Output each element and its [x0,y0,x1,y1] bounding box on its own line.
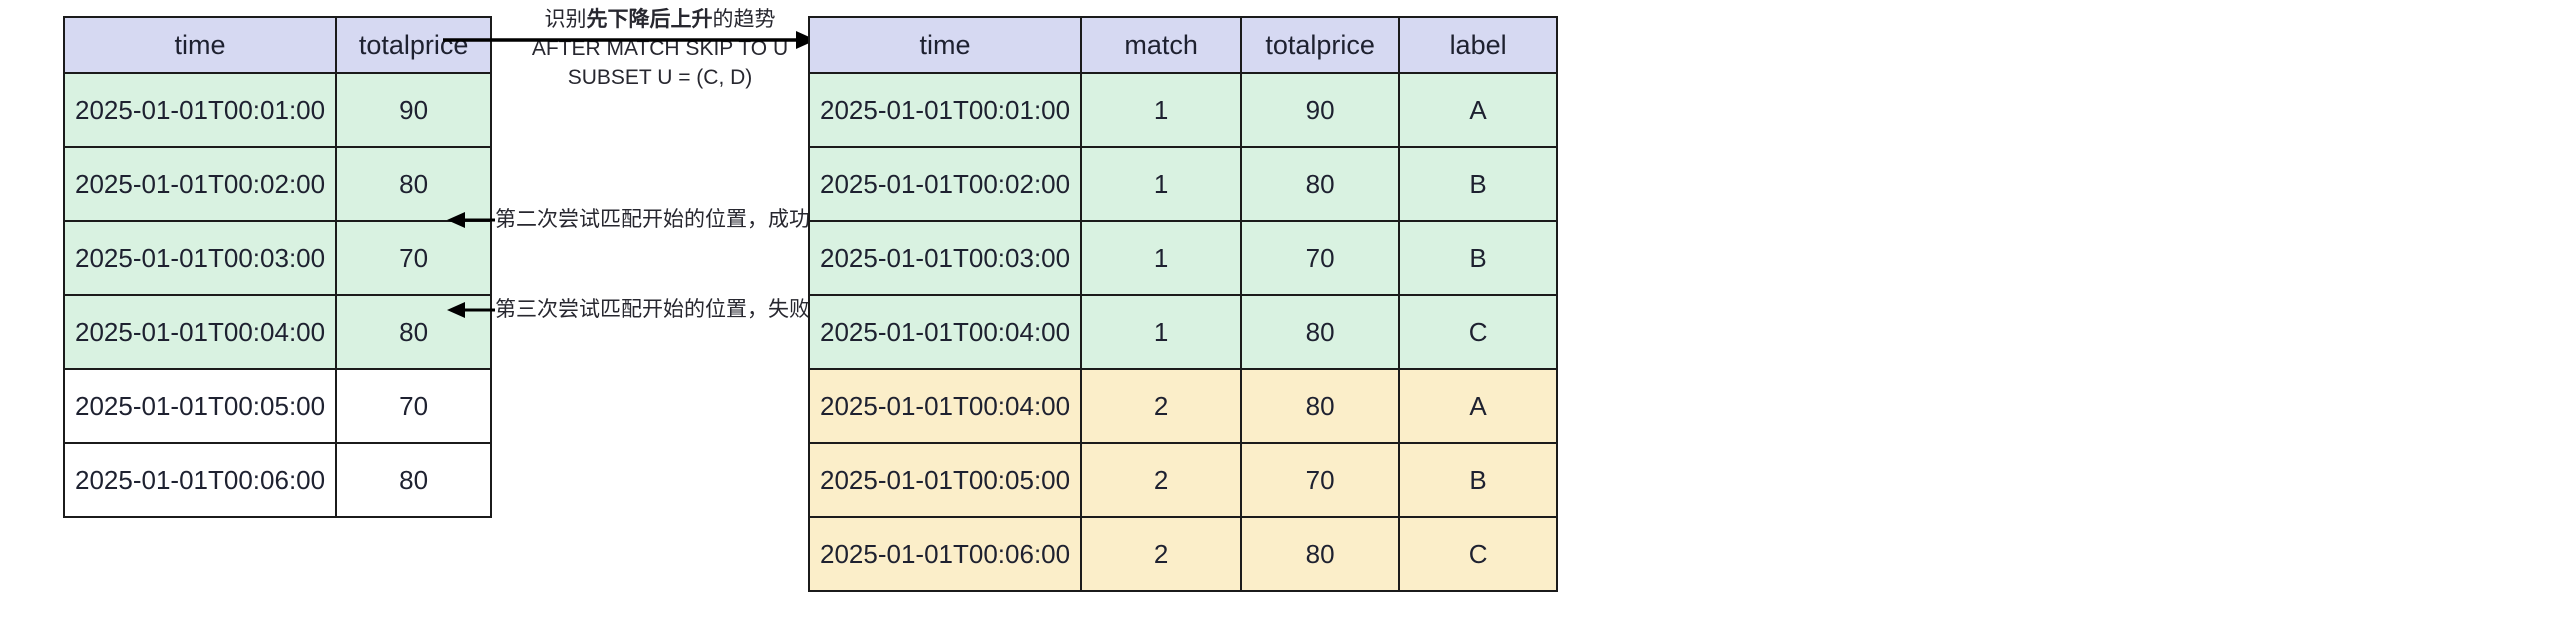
cell-totalprice: 70 [336,221,491,295]
cell-totalprice: 70 [1241,443,1399,517]
annotation-trend-prefix: 识别 [545,8,587,31]
cell-label: A [1399,369,1557,443]
cell-time: 2025-01-01T00:06:00 [809,517,1081,591]
cell-totalprice: 80 [336,147,491,221]
cell-label: B [1399,443,1557,517]
cell-match: 1 [1081,147,1241,221]
cell-time: 2025-01-01T00:03:00 [809,221,1081,295]
cell-totalprice: 80 [336,295,491,369]
cell-time: 2025-01-01T00:04:00 [809,295,1081,369]
cell-match: 1 [1081,73,1241,147]
left-table-body: 2025-01-01T00:01:00902025-01-01T00:02:00… [64,73,491,517]
cell-totalprice: 80 [1241,369,1399,443]
cell-totalprice: 90 [1241,73,1399,147]
annotation-trend-emphasis: 先下降后上升 [587,8,713,31]
callout-text-second-attempt: 第二次尝试匹配开始的位置，成功 [495,206,810,234]
table-row: 2025-01-01T00:06:0080 [64,443,491,517]
annotation-line-after-match-skip: AFTER MATCH SKIP TO U [515,34,805,63]
cell-match: 2 [1081,443,1241,517]
callout-text-third-attempt: 第三次尝试匹配开始的位置，失败 [495,296,810,324]
table-row: 2025-01-01T00:01:00190A [809,73,1557,147]
cell-totalprice: 80 [336,443,491,517]
cell-label: B [1399,147,1557,221]
cell-time: 2025-01-01T00:01:00 [64,73,336,147]
column-header-time: time [64,17,336,73]
table-row: 2025-01-01T00:06:00280C [809,517,1557,591]
table-row: 2025-01-01T00:05:00270B [809,443,1557,517]
cell-label: B [1399,221,1557,295]
table-row: 2025-01-01T00:02:0080 [64,147,491,221]
cell-time: 2025-01-01T00:04:00 [809,369,1081,443]
table-row: 2025-01-01T00:02:00180B [809,147,1557,221]
transform-annotation: 识别先下降后上升的趋势 AFTER MATCH SKIP TO U SUBSET… [515,5,805,92]
cell-totalprice: 90 [336,73,491,147]
cell-time: 2025-01-01T00:05:00 [809,443,1081,517]
cell-match: 2 [1081,369,1241,443]
right-table-body: 2025-01-01T00:01:00190A2025-01-01T00:02:… [809,73,1557,591]
cell-time: 2025-01-01T00:03:00 [64,221,336,295]
table-row: 2025-01-01T00:03:00170B [809,221,1557,295]
table-header-row: time match totalprice label [809,17,1557,73]
cell-time: 2025-01-01T00:05:00 [64,369,336,443]
cell-match: 2 [1081,517,1241,591]
cell-time: 2025-01-01T00:02:00 [809,147,1081,221]
column-header-match: match [1081,17,1241,73]
column-header-label: label [1399,17,1557,73]
table-row: 2025-01-01T00:01:0090 [64,73,491,147]
cell-time: 2025-01-01T00:02:00 [64,147,336,221]
cell-totalprice: 70 [1241,221,1399,295]
cell-label: C [1399,295,1557,369]
cell-match: 1 [1081,221,1241,295]
cell-totalprice: 80 [1241,295,1399,369]
table-header-row: time totalprice [64,17,491,73]
cell-totalprice: 80 [1241,147,1399,221]
diagram-canvas: time totalprice 2025-01-01T00:01:0090202… [0,0,2560,632]
annotation-line-subset: SUBSET U = (C, D) [515,63,805,92]
cell-time: 2025-01-01T00:01:00 [809,73,1081,147]
input-table: time totalprice 2025-01-01T00:01:0090202… [63,16,492,518]
table-row: 2025-01-01T00:04:00280A [809,369,1557,443]
cell-time: 2025-01-01T00:04:00 [64,295,336,369]
cell-label: C [1399,517,1557,591]
cell-totalprice: 70 [336,369,491,443]
table-row: 2025-01-01T00:04:0080 [64,295,491,369]
cell-label: A [1399,73,1557,147]
column-header-totalprice: totalprice [336,17,491,73]
annotation-line-trend: 识别先下降后上升的趋势 [515,5,805,34]
cell-match: 1 [1081,295,1241,369]
annotation-trend-suffix: 的趋势 [713,8,776,31]
column-header-time: time [809,17,1081,73]
column-header-totalprice: totalprice [1241,17,1399,73]
cell-totalprice: 80 [1241,517,1399,591]
table-row: 2025-01-01T00:05:0070 [64,369,491,443]
table-row: 2025-01-01T00:03:0070 [64,221,491,295]
cell-time: 2025-01-01T00:06:00 [64,443,336,517]
table-row: 2025-01-01T00:04:00180C [809,295,1557,369]
output-table: time match totalprice label 2025-01-01T0… [808,16,1558,592]
